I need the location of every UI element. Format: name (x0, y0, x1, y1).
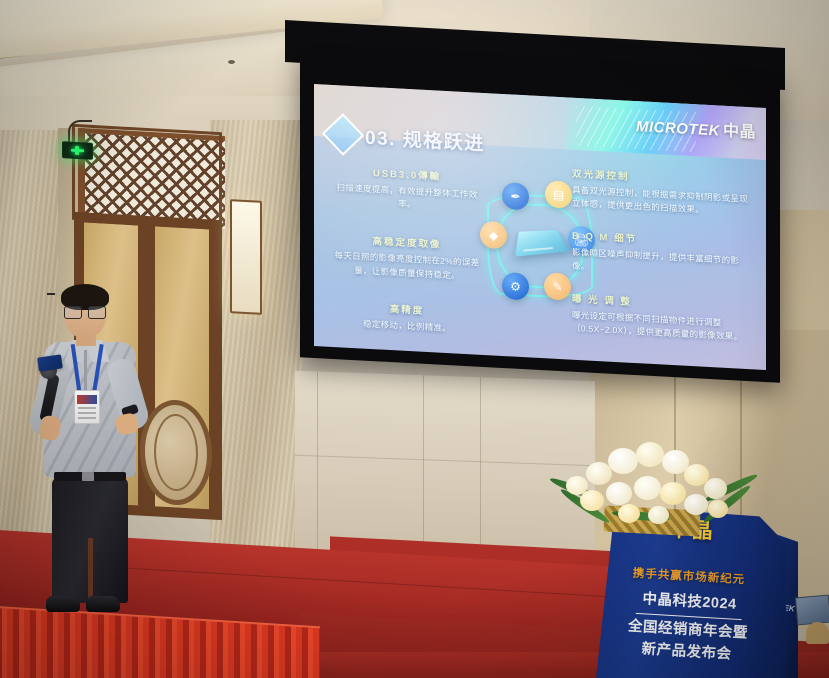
feature-body: 曝光设定可根据不同扫描物件进行调整（0.5X~2.0X），提供更高质量的影像效果… (572, 308, 754, 344)
section-number: 03. (365, 127, 396, 150)
feature-block: 高稳定度取像 每天日照的影像亮度控制在2%的误差量，让影像质量保持稳定。 (332, 231, 482, 283)
flower (648, 506, 669, 524)
floral-arrangement (552, 424, 764, 534)
feature-body: 具备双光源控制，能根据需求抑制阴影或呈现立体感，提供更出色的扫描效果。 (572, 184, 754, 220)
wall-sconce-light (230, 199, 262, 315)
slide-right-column: 双光源控制 具备双光源控制，能根据需求抑制阴影或呈现立体感，提供更出色的扫描效果… (572, 166, 754, 359)
flower (660, 482, 686, 505)
feature-block: B Q M 细节 影像暗区噪声抑制提升，提供丰富细节的影像。 (572, 228, 754, 282)
panel-seam (317, 372, 318, 567)
projection-screen: MICROTEK中晶 03. 规格跃进 USB3.0傳輸 扫描速度提高，有效提升… (300, 45, 780, 383)
speaker-figure (30, 288, 150, 618)
feature-block: 曝 光 调 整 曝光设定可根据不同扫描物件进行调整（0.5X~2.0X），提供更… (572, 290, 754, 344)
chair (806, 622, 829, 644)
flower (634, 476, 661, 500)
diamond-decor-icon (322, 113, 364, 155)
exit-sign-icon (62, 141, 93, 160)
brand-chinese: 中晶 (723, 123, 756, 142)
flower (606, 482, 632, 505)
feature-block: 双光源控制 具备双光源控制，能根据需求抑制阴影或呈现立体感，提供更出色的扫描效果… (572, 166, 754, 220)
slide-canvas: MICROTEK中晶 03. 规格跃进 USB3.0傳輸 扫描速度提高，有效提升… (314, 84, 766, 370)
podium-title-block: 中晶科技2024 全国经销商年会暨 新产品发布会 (598, 587, 778, 669)
glasses-icon (64, 306, 106, 317)
feature-block: USB3.0傳輸 扫描速度提高，有效提升整体工作效率。 (332, 163, 482, 215)
flower (704, 478, 727, 499)
section-title: 规格跃进 (403, 129, 485, 154)
glasses-bridge (47, 293, 55, 295)
feature-body: 稳定移动，比例精准。 (332, 316, 482, 337)
slide-title: 03. 规格跃进 (365, 122, 485, 155)
pen-nib-icon: ✒ (502, 182, 529, 210)
feature-block: 高精度 稳定移动，比例精准。 (332, 298, 482, 337)
shoe-right (86, 596, 120, 612)
flower (684, 494, 708, 515)
flower (636, 442, 664, 467)
gears-icon: ⚙ (502, 272, 529, 300)
flower (708, 500, 728, 518)
slide-left-column: USB3.0傳輸 扫描速度提高，有效提升整体工作效率。 高稳定度取像 每天日照的… (332, 163, 482, 351)
presentation-photo-scene: MICROTEK中晶 03. 规格跃进 USB3.0傳輸 扫描速度提高，有效提升… (0, 0, 829, 678)
leg-gap (88, 538, 93, 604)
panel-seam (480, 377, 481, 572)
name-badge (74, 390, 100, 424)
flower (618, 504, 640, 523)
panel-seam (295, 455, 595, 466)
laptop-screen[interactable] (795, 595, 829, 626)
diamond-quality-icon: ◆ (480, 221, 507, 249)
belt-buckle (82, 472, 94, 481)
feature-body: 影像暗区噪声抑制提升，提供丰富细节的影像。 (572, 246, 754, 282)
shoe-left (46, 596, 80, 612)
flower (580, 490, 604, 511)
downlight-icon (228, 60, 235, 64)
color-tools-icon: ✎ (544, 272, 571, 300)
flower (608, 448, 638, 474)
brand-latin: MICROTEK (636, 118, 720, 139)
feature-body: 每天日照的影像亮度控制在2%的误差量，让影像质量保持稳定。 (332, 249, 482, 283)
green-cross-icon (71, 146, 84, 156)
document-lines-icon: ▤ (545, 180, 572, 208)
feature-body: 扫描速度提高，有效提升整体工作效率。 (332, 181, 482, 215)
